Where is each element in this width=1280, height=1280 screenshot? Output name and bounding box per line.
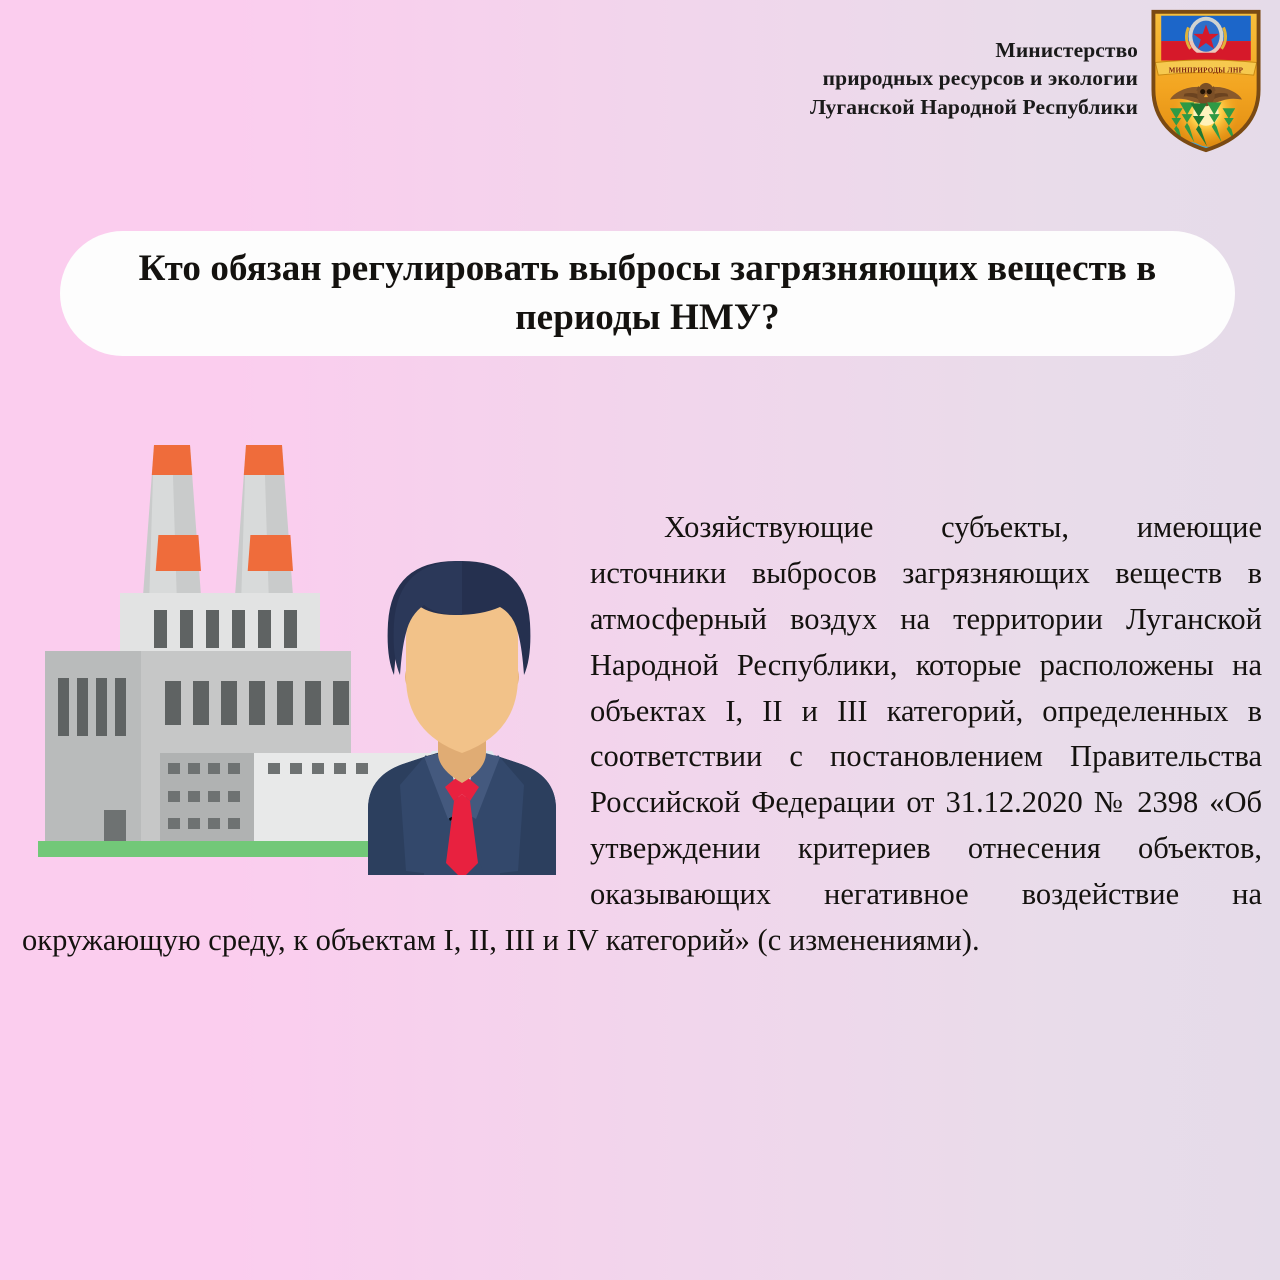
ministry-name-line-2: природных ресурсов и экологии bbox=[810, 64, 1138, 92]
illustration-text-wrap-spacer bbox=[22, 505, 590, 873]
title-card: Кто обязан регулировать выбросы загрязня… bbox=[60, 231, 1235, 356]
page-title: Кто обязан регулировать выбросы загрязня… bbox=[103, 245, 1193, 343]
body-copy: Хозяйствующие субъекты, имеющие источник… bbox=[22, 505, 1262, 964]
ministry-emblem-icon: МИНПРИРОДЫ ЛНР bbox=[1146, 6, 1266, 154]
ministry-name: Министерство природных ресурсов и эколог… bbox=[810, 34, 1138, 121]
header: Министерство природных ресурсов и эколог… bbox=[810, 34, 1266, 154]
emblem-banner-text: МИНПРИРОДЫ ЛНР bbox=[1169, 67, 1244, 75]
ministry-name-line-1: Министерство bbox=[810, 36, 1138, 64]
ministry-name-line-3: Луганской Народной Республики bbox=[810, 93, 1138, 121]
poster-canvas: Министерство природных ресурсов и эколог… bbox=[0, 0, 1280, 1280]
